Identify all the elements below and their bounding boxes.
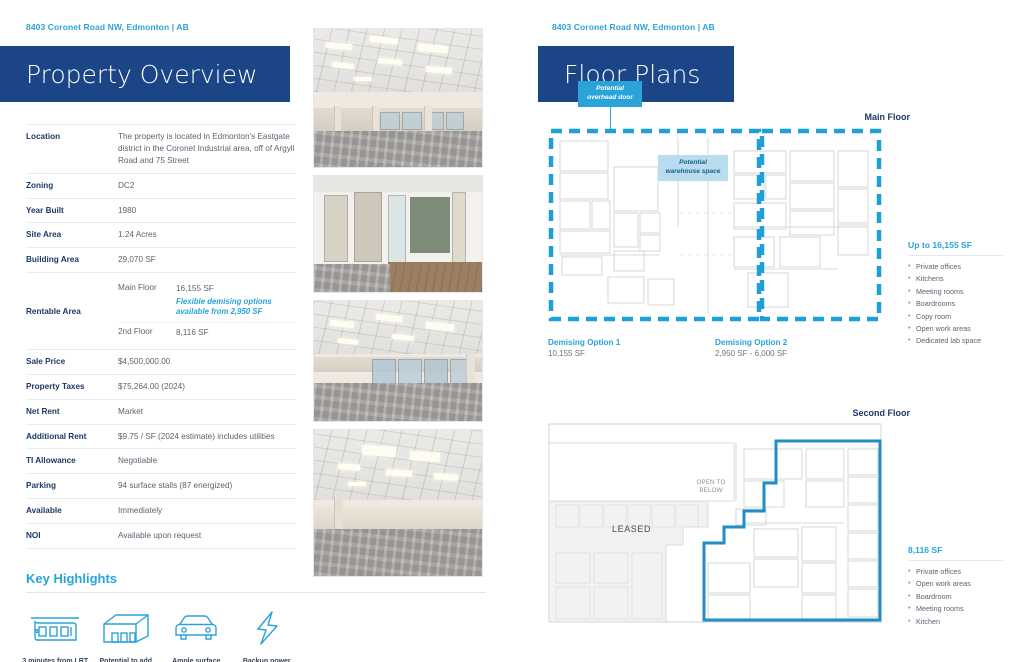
list-item: Dedicated lab space bbox=[908, 335, 1004, 347]
table-row: Additional Rent $9.75 / SF (2024 estimat… bbox=[26, 425, 296, 450]
rentable-main-floor: Main Floor 16,155 SF Flexible demising o… bbox=[118, 279, 296, 321]
divider bbox=[26, 592, 486, 593]
property-photo-gallery bbox=[313, 28, 483, 577]
photo-corridor-offices bbox=[313, 175, 483, 293]
pill-potential-overhead-door: Potential overhead door bbox=[578, 81, 642, 107]
page-property-overview: 8403 Coronet Road NW, Edmonton | AB Prop… bbox=[0, 0, 512, 662]
table-row: Location The property is located in Edmo… bbox=[26, 124, 296, 174]
warehouse-icon bbox=[93, 607, 160, 649]
key-highlight-caption: Potential to add overhead doors and ware… bbox=[93, 657, 160, 662]
table-row: Sale Price $4,500,000.00 bbox=[26, 350, 296, 375]
main-floor-feature-list: Private offices Kitchens Meeting rooms B… bbox=[908, 261, 1004, 348]
demising-option-2: Demising Option 2 2,950 SF - 6,000 SF bbox=[715, 338, 882, 358]
table-row: Building Area 29,070 SF bbox=[26, 248, 296, 273]
main-floor-section: Main Floor Potential overhead door Poten… bbox=[548, 112, 910, 358]
second-floor-plan: OPEN TO BELOW LEASED bbox=[548, 423, 882, 628]
spec-label: Location bbox=[26, 131, 118, 141]
second-floor-sf: 8,116 SF bbox=[908, 545, 1004, 555]
main-floor-features: Up to 16,155 SF Private offices Kitchens… bbox=[908, 240, 1004, 348]
spec-value: 1980 bbox=[118, 205, 296, 217]
main-floor-title: Main Floor bbox=[548, 112, 910, 122]
list-item: Private offices bbox=[908, 566, 1004, 578]
spec-value: 94 surface stalls (87 energized) bbox=[118, 480, 296, 492]
key-highlight-caption: Ample surface parking with energized sta… bbox=[163, 657, 230, 662]
photo-open-office-ceiling bbox=[313, 28, 483, 168]
list-item: Meeting rooms bbox=[908, 603, 1004, 615]
spec-label: Rentable Area bbox=[26, 306, 118, 316]
table-row: Property Taxes $75,264.00 (2024) bbox=[26, 375, 296, 400]
spec-label: Year Built bbox=[26, 205, 118, 215]
brochure-spread: 8403 Coronet Road NW, Edmonton | AB Prop… bbox=[0, 0, 1024, 662]
key-highlight-item: 3 minutes from LRT station bbox=[20, 607, 91, 662]
rentable-main-floor-value: 16,155 SF bbox=[176, 283, 296, 295]
spec-value: 1.24 Acres bbox=[118, 229, 296, 241]
list-item: Kitchens bbox=[908, 273, 1004, 285]
rentable-main-floor-note: Flexible demising options available from… bbox=[176, 297, 296, 318]
spec-label: NOI bbox=[26, 530, 118, 540]
second-floor-features: 8,116 SF Private offices Open work areas… bbox=[908, 545, 1004, 628]
spec-label: Sale Price bbox=[26, 356, 118, 366]
property-address-right: 8403 Coronet Road NW, Edmonton | AB bbox=[512, 22, 1024, 32]
spec-label: TI Allowance bbox=[26, 455, 118, 465]
lightning-bolt-icon bbox=[234, 607, 301, 649]
demising-option-subtitle: 2,950 SF - 6,000 SF bbox=[715, 349, 882, 358]
table-row: NOI Available upon request bbox=[26, 524, 296, 549]
second-floor-feature-list: Private offices Open work areas Boardroo… bbox=[908, 566, 1004, 628]
table-row: Site Area 1.24 Acres bbox=[26, 223, 296, 248]
demising-option-1: Demising Option 1 10,155 SF bbox=[548, 338, 715, 358]
leased-label: LEASED bbox=[612, 524, 651, 534]
rentable-second-floor-value: 8,116 SF bbox=[176, 327, 209, 339]
page-floor-plans: 8403 Coronet Road NW, Edmonton | AB Floo… bbox=[512, 0, 1024, 662]
second-floor-plan-drawing bbox=[548, 423, 882, 623]
table-row: Parking 94 surface stalls (87 energized) bbox=[26, 474, 296, 499]
spec-value: $75,264.00 (2024) bbox=[118, 381, 296, 393]
lrt-train-icon bbox=[22, 607, 89, 649]
page-title-property-overview: Property Overview bbox=[0, 46, 290, 102]
spec-value: Available upon request bbox=[118, 530, 296, 542]
spec-label: Net Rent bbox=[26, 406, 118, 416]
rentable-main-floor-label: Main Floor bbox=[118, 283, 176, 317]
photo-open-office-column bbox=[313, 429, 483, 577]
list-item: Boardroom bbox=[908, 591, 1004, 603]
key-highlight-item: Potential to add overhead doors and ware… bbox=[91, 607, 162, 662]
spec-label: Building Area bbox=[26, 254, 118, 264]
pill-leader-line bbox=[610, 107, 611, 129]
spec-value: Immediately bbox=[118, 505, 296, 517]
demising-option-title: Demising Option 2 bbox=[715, 338, 882, 347]
spec-label: Property Taxes bbox=[26, 381, 118, 391]
spec-value: The property is located in Edmonton's Ea… bbox=[118, 131, 296, 167]
rentable-second-floor-label: 2nd Floor bbox=[118, 327, 176, 339]
key-highlight-item: Backup power generator bbox=[232, 607, 303, 662]
spec-value: 29,070 SF bbox=[118, 254, 296, 266]
demising-option-title: Demising Option 1 bbox=[548, 338, 715, 347]
main-floor-sf: Up to 16,155 SF bbox=[908, 240, 1004, 250]
spec-label: Parking bbox=[26, 480, 118, 490]
table-row: Net Rent Market bbox=[26, 400, 296, 425]
table-row-rentable-area: Rentable Area Main Floor 16,155 SF Flexi… bbox=[26, 273, 296, 350]
table-row: Zoning DC2 bbox=[26, 174, 296, 199]
key-highlight-caption: 3 minutes from LRT station bbox=[22, 657, 89, 662]
list-item: Boardrooms bbox=[908, 298, 1004, 310]
spec-value: $4,500,000.00 bbox=[118, 356, 296, 368]
table-row: Available Immediately bbox=[26, 499, 296, 524]
key-highlight-caption: Backup power generator bbox=[234, 657, 301, 662]
demising-options: Demising Option 1 10,155 SF Demising Opt… bbox=[548, 338, 882, 358]
key-highlights-grid: 3 minutes from LRT station Potential to … bbox=[20, 607, 302, 662]
divider bbox=[908, 560, 1004, 561]
list-item: Kitchen bbox=[908, 616, 1004, 628]
second-floor-title: Second Floor bbox=[548, 408, 910, 418]
key-highlight-item: Ample surface parking with energized sta… bbox=[161, 607, 232, 662]
second-floor-section: Second Floor OPEN TO BELOW LEASED bbox=[548, 408, 910, 628]
list-item: Copy room bbox=[908, 311, 1004, 323]
car-icon bbox=[163, 607, 230, 649]
divider bbox=[908, 255, 1004, 256]
demising-option-subtitle: 10,155 SF bbox=[548, 349, 715, 358]
list-item: Open work areas bbox=[908, 578, 1004, 590]
table-row: Year Built 1980 bbox=[26, 199, 296, 224]
spec-label: Site Area bbox=[26, 229, 118, 239]
spec-label: Zoning bbox=[26, 180, 118, 190]
table-row: TI Allowance Negotiable bbox=[26, 449, 296, 474]
photo-open-office-windows bbox=[313, 300, 483, 422]
spec-value: DC2 bbox=[118, 180, 296, 192]
rentable-second-floor: 2nd Floor 8,116 SF bbox=[118, 322, 296, 343]
list-item: Private offices bbox=[908, 261, 1004, 273]
pill-potential-warehouse-space: Potential warehouse space bbox=[658, 155, 728, 181]
main-floor-plan: Potential overhead door Potential wareho… bbox=[548, 127, 882, 328]
spec-value: $9.75 / SF (2024 estimate) includes util… bbox=[118, 431, 296, 443]
spec-label: Additional Rent bbox=[26, 431, 118, 441]
list-item: Meeting rooms bbox=[908, 286, 1004, 298]
spec-value: Market bbox=[118, 406, 296, 418]
spec-value: Negotiable bbox=[118, 455, 296, 467]
spec-label: Available bbox=[26, 505, 118, 515]
property-spec-table: Location The property is located in Edmo… bbox=[26, 124, 296, 549]
list-item: Open work areas bbox=[908, 323, 1004, 335]
open-to-below-label: OPEN TO BELOW bbox=[688, 479, 734, 495]
